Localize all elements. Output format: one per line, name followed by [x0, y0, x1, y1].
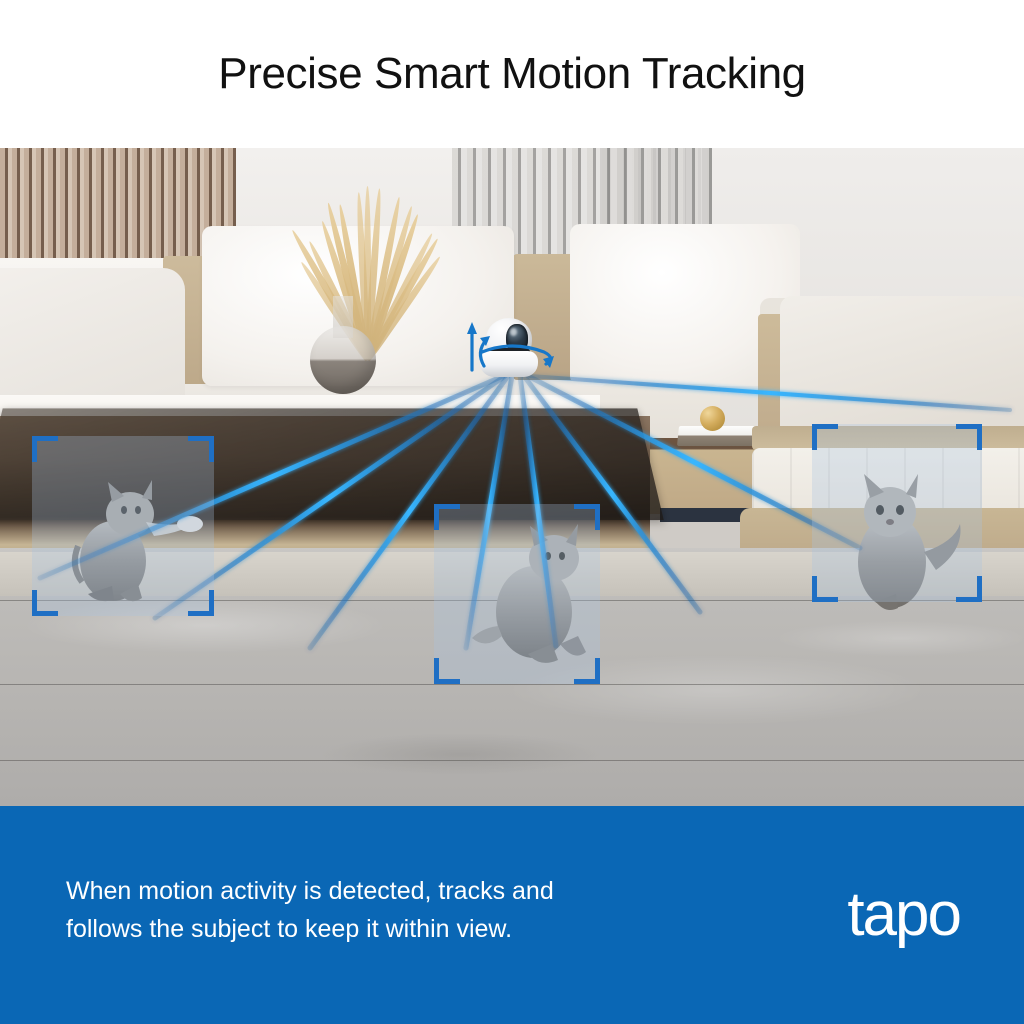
bracket-corner-icon	[812, 576, 838, 602]
detection-box-center[interactable]	[434, 504, 600, 684]
caption-line-2: follows the subject to keep it within vi…	[66, 910, 726, 948]
title-band: Precise Smart Motion Tracking	[0, 0, 1024, 148]
pampas-grass-icon	[306, 160, 426, 360]
footer-banner: When motion activity is detected, tracks…	[0, 806, 1024, 1024]
bracket-corner-icon	[956, 576, 982, 602]
sofa-armrest-left	[0, 268, 185, 403]
bracket-corner-icon	[188, 436, 214, 462]
bracket-corner-icon	[574, 504, 600, 530]
gold-sphere-decor	[700, 406, 725, 431]
grout-line	[0, 684, 1024, 685]
bracket-corner-icon	[434, 504, 460, 530]
detection-box-right[interactable]	[812, 424, 982, 602]
product-feature-card: Precise Smart Motion Tracking	[0, 0, 1024, 1024]
bracket-corner-icon	[32, 590, 58, 616]
tapo-brand-logo: tapo	[847, 884, 960, 946]
caption-line-1: When motion activity is detected, tracks…	[66, 872, 726, 910]
page-title: Precise Smart Motion Tracking	[218, 49, 806, 99]
detection-highlight	[434, 504, 600, 684]
bracket-corner-icon	[434, 658, 460, 684]
bracket-corner-icon	[32, 436, 58, 462]
bracket-corner-icon	[956, 424, 982, 450]
grout-line	[0, 760, 1024, 761]
detection-highlight	[32, 436, 214, 616]
detection-box-left[interactable]	[32, 436, 214, 616]
bracket-corner-icon	[188, 590, 214, 616]
bracket-corner-icon	[812, 424, 838, 450]
bracket-corner-icon	[574, 658, 600, 684]
pan-tilt-rotation-arrows-icon	[446, 312, 574, 388]
scene-photo	[0, 148, 1024, 806]
feature-caption: When motion activity is detected, tracks…	[66, 872, 726, 948]
glass-vase	[310, 326, 376, 394]
